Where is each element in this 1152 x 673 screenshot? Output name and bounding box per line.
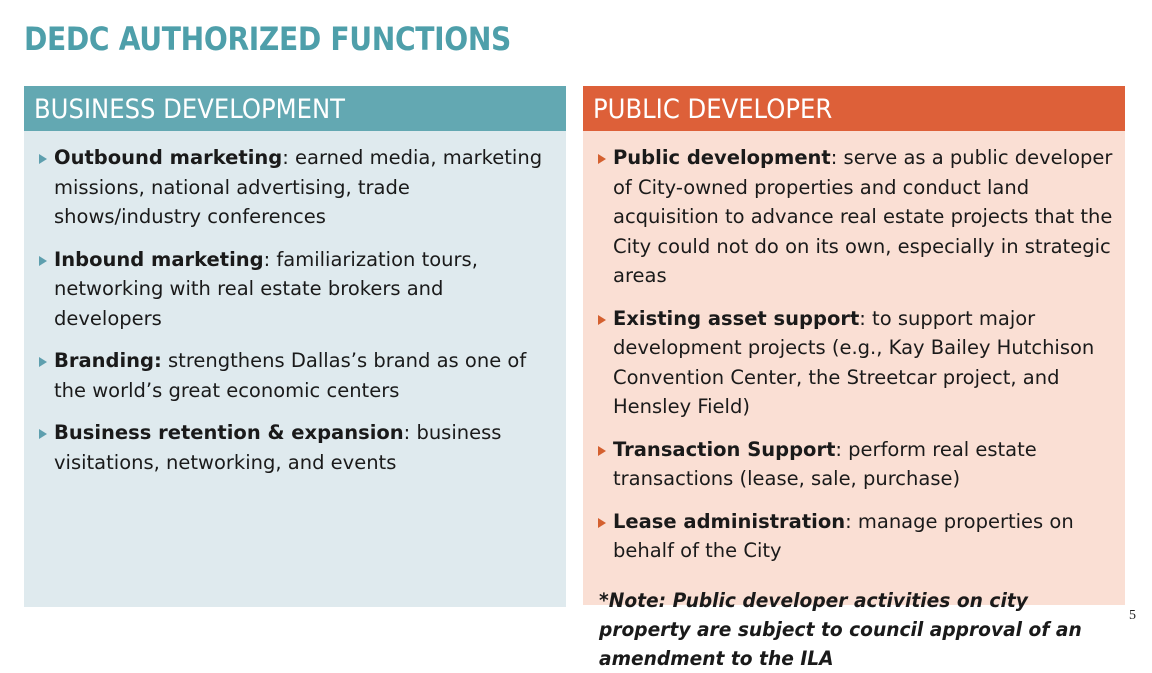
- panel-header-label: PUBLIC DEVELOPER: [593, 95, 832, 125]
- list-item-text: Public development: serve as a public de…: [613, 143, 1113, 291]
- bullet-triangle-icon: [591, 507, 613, 528]
- list-item: Public development: serve as a public de…: [591, 143, 1113, 291]
- panel-public-developer: PUBLIC DEVELOPER Public development: ser…: [583, 86, 1125, 605]
- bullet-triangle-icon: [32, 245, 54, 266]
- list-item: Outbound marketing: earned media, market…: [32, 143, 554, 232]
- list-item-lead: Transaction Support: [613, 438, 835, 461]
- list-item-text: Branding: strengthens Dallas’s brand as …: [54, 346, 554, 405]
- list-item-text: Outbound marketing: earned media, market…: [54, 143, 554, 232]
- list-item-lead: Inbound marketing: [54, 248, 264, 271]
- bullet-triangle-icon: [32, 346, 54, 367]
- list-item-lead: Lease administration: [613, 510, 845, 533]
- footnote: *Note: Public developer activities on ci…: [591, 586, 1113, 673]
- footnote-text: *Note: Public developer activities on ci…: [599, 586, 1090, 673]
- panel-header-label: BUSINESS DEVELOPMENT: [34, 95, 345, 125]
- list-item-lead: Branding:: [54, 349, 162, 372]
- bullet-triangle-icon: [591, 304, 613, 325]
- list-item-text: Existing asset support: to support major…: [613, 304, 1113, 422]
- list-item-lead: Outbound marketing: [54, 146, 282, 169]
- panel-header-business-development: BUSINESS DEVELOPMENT: [24, 86, 566, 131]
- list-item: Existing asset support: to support major…: [591, 304, 1113, 422]
- list-item-lead: Business retention & expansion: [54, 421, 404, 444]
- panel-body-public-developer: Public development: serve as a public de…: [583, 131, 1125, 605]
- bullet-triangle-icon: [32, 418, 54, 439]
- panel-header-public-developer: PUBLIC DEVELOPER: [583, 86, 1125, 131]
- list-item-text: Inbound marketing: familiarization tours…: [54, 245, 554, 334]
- list-item: Business retention & expansion: business…: [32, 418, 554, 477]
- page-title: DEDC AUTHORIZED FUNCTIONS: [24, 20, 816, 58]
- bullet-triangle-icon: [32, 143, 54, 164]
- list-item: Transaction Support: perform real estate…: [591, 435, 1113, 494]
- list-item-text: Lease administration: manage properties …: [613, 507, 1113, 566]
- list-item: Lease administration: manage properties …: [591, 507, 1113, 566]
- panel-body-business-development: Outbound marketing: earned media, market…: [24, 131, 566, 607]
- bullet-triangle-icon: [591, 143, 613, 164]
- bullet-triangle-icon: [591, 435, 613, 456]
- list-item-lead: Existing asset support: [613, 307, 859, 330]
- slide-canvas: DEDC AUTHORIZED FUNCTIONS BUSINESS DEVEL…: [0, 0, 1152, 648]
- page-number: 5: [1129, 608, 1136, 624]
- list-item: Branding: strengthens Dallas’s brand as …: [32, 346, 554, 405]
- list-item-text: Transaction Support: perform real estate…: [613, 435, 1113, 494]
- list-item-lead: Public development: [613, 146, 831, 169]
- panel-business-development: BUSINESS DEVELOPMENT Outbound marketing:…: [24, 86, 566, 607]
- list-item: Inbound marketing: familiarization tours…: [32, 245, 554, 334]
- list-item-text: Business retention & expansion: business…: [54, 418, 554, 477]
